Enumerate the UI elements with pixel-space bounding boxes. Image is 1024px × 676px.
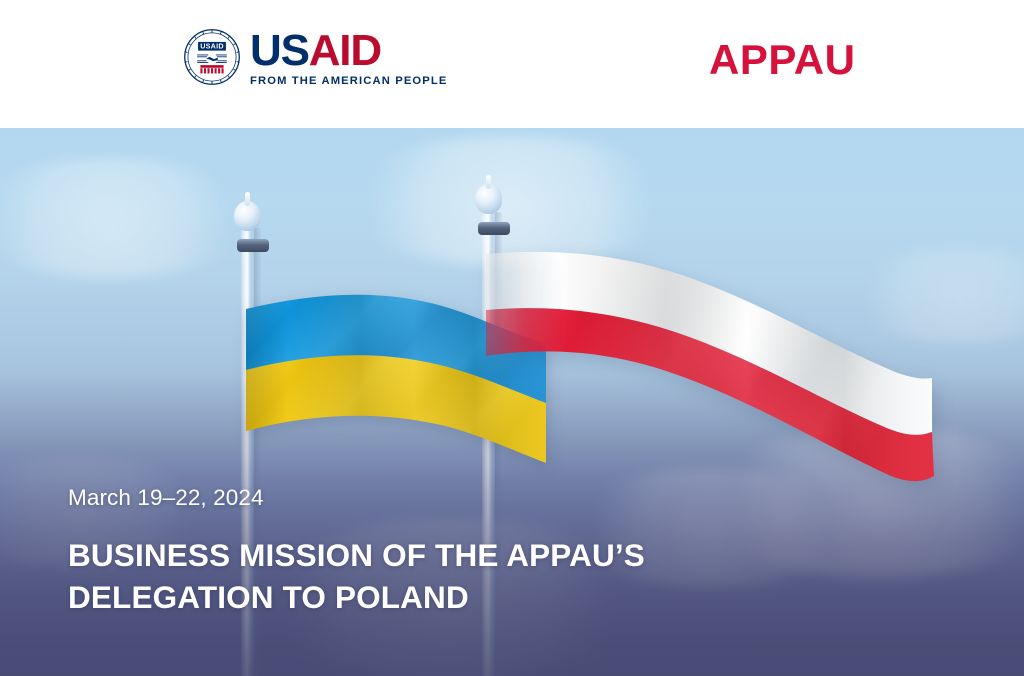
usaid-seal-icon: USAID	[183, 28, 241, 86]
headline-line-2: DELEGATION TO POLAND	[68, 577, 645, 619]
hero-copy: March 19–22, 2024 BUSINESS MISSION OF TH…	[68, 487, 645, 619]
usaid-word-us: US	[250, 26, 309, 75]
usaid-wordmark: USAID FROM THE AMERICAN PEOPLE	[250, 27, 448, 87]
svg-text:USAID: USAID	[200, 42, 224, 51]
hero-image: Image: Freepik.com. This cover has been …	[0, 128, 1024, 676]
event-date: March 19–22, 2024	[68, 487, 645, 510]
flag-pole-right-tip-icon	[486, 175, 491, 189]
appau-logo: APPAU	[709, 39, 855, 81]
headline-line-1: BUSINESS MISSION OF THE APPAU’S	[68, 535, 645, 577]
header-bar: USAID	[0, 0, 1024, 128]
usaid-tagline: FROM THE AMERICAN PEOPLE	[250, 76, 448, 87]
usaid-word-aid: AID	[309, 26, 381, 75]
flag-pole-left-cleat-icon	[237, 239, 269, 252]
usaid-word: USAID	[250, 29, 448, 73]
flag-pole-left-tip-icon	[245, 192, 250, 206]
poland-flag	[486, 218, 936, 498]
usaid-logo: USAID	[183, 27, 448, 87]
page-title: BUSINESS MISSION OF THE APPAU’S DELEGATI…	[68, 535, 645, 619]
poster-slide: USAID	[0, 0, 1024, 676]
